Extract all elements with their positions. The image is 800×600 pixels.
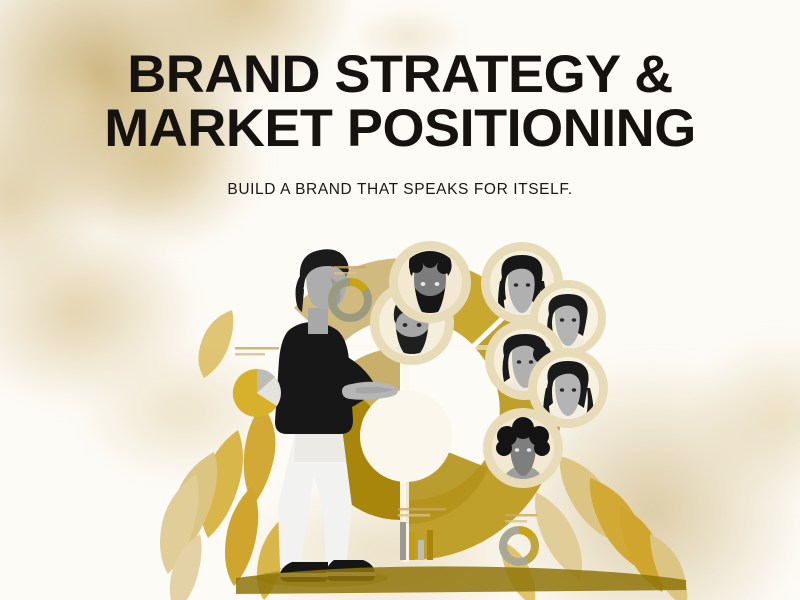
page-subtitle: BUILD A BRAND THAT SPEAKS FOR ITSELF. xyxy=(0,181,800,199)
page-title-line-1: BRAND STRATEGY & xyxy=(0,48,800,102)
decorative-gold-leaves-left xyxy=(160,310,284,600)
page-title-line-2: MARKET POSITIONING xyxy=(0,102,800,156)
poster-canvas: BRAND STRATEGY & MARKET POSITIONING BUIL… xyxy=(0,0,800,600)
heading-block: BRAND STRATEGY & MARKET POSITIONING BUIL… xyxy=(0,48,800,199)
